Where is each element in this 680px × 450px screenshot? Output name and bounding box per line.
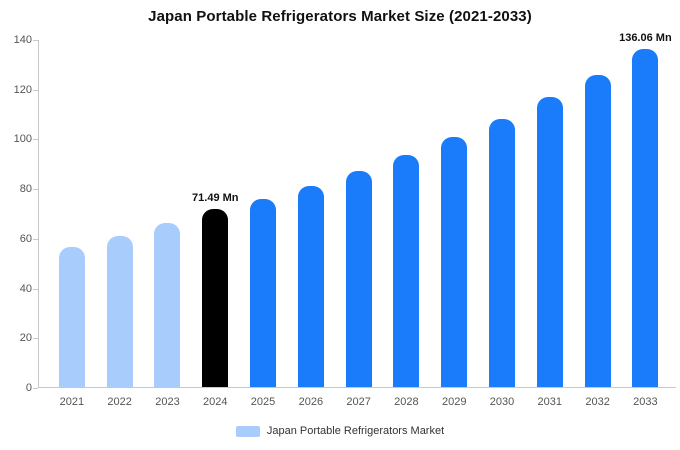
bar-2029[interactable] <box>441 137 467 387</box>
x-tick-label: 2026 <box>299 396 323 408</box>
chart-container: Japan Portable Refrigerators Market Size… <box>0 0 680 450</box>
bar-2022[interactable] <box>107 236 133 387</box>
y-tick-mark <box>33 189 38 190</box>
bar-2028[interactable] <box>393 155 419 387</box>
x-axis-line <box>38 387 676 388</box>
y-tick-label: 100 <box>0 133 32 145</box>
x-tick-label: 2028 <box>394 396 418 408</box>
bar-2025[interactable] <box>250 199 276 387</box>
y-tick-label: 120 <box>0 84 32 96</box>
bar-2026[interactable] <box>298 186 324 387</box>
x-tick-label: 2033 <box>633 396 657 408</box>
y-tick-label: 0 <box>0 382 32 394</box>
legend-swatch-japan-portable-refrigerators-market <box>236 426 260 437</box>
y-tick-mark <box>33 289 38 290</box>
bar-2024[interactable] <box>202 209 228 387</box>
x-tick-label: 2027 <box>346 396 370 408</box>
x-tick-label: 2023 <box>155 396 179 408</box>
y-tick-label: 140 <box>0 34 32 46</box>
y-tick-label: 40 <box>0 283 32 295</box>
bar-annotation-2033: 136.06 Mn <box>619 32 672 44</box>
x-tick-label: 2022 <box>107 396 131 408</box>
y-tick-mark <box>33 90 38 91</box>
y-tick-mark <box>33 239 38 240</box>
chart-legend: Japan Portable Refrigerators Market <box>0 425 680 437</box>
bar-2023[interactable] <box>154 223 180 387</box>
x-tick-label: 2021 <box>60 396 84 408</box>
x-tick-label: 2025 <box>251 396 275 408</box>
bar-2033[interactable] <box>632 49 658 387</box>
y-tick-label: 20 <box>0 332 32 344</box>
y-tick-label: 80 <box>0 183 32 195</box>
y-axis-line <box>38 40 39 388</box>
y-tick-mark <box>33 40 38 41</box>
plot-area: 020406080100120140 202120222023202420252… <box>38 40 676 388</box>
legend-label-japan-portable-refrigerators-market: Japan Portable Refrigerators Market <box>267 425 444 437</box>
bar-annotation-2024: 71.49 Mn <box>192 192 238 204</box>
x-tick-label: 2024 <box>203 396 227 408</box>
chart-title: Japan Portable Refrigerators Market Size… <box>0 8 680 25</box>
bar-2031[interactable] <box>537 97 563 387</box>
bar-2032[interactable] <box>585 75 611 387</box>
x-tick-label: 2032 <box>585 396 609 408</box>
bar-2027[interactable] <box>346 171 372 387</box>
y-tick-mark <box>33 388 38 389</box>
x-tick-label: 2029 <box>442 396 466 408</box>
bar-2030[interactable] <box>489 119 515 387</box>
y-tick-label: 60 <box>0 233 32 245</box>
x-tick-label: 2031 <box>538 396 562 408</box>
x-tick-label: 2030 <box>490 396 514 408</box>
y-tick-mark <box>33 139 38 140</box>
bar-2021[interactable] <box>59 247 85 387</box>
y-tick-mark <box>33 338 38 339</box>
